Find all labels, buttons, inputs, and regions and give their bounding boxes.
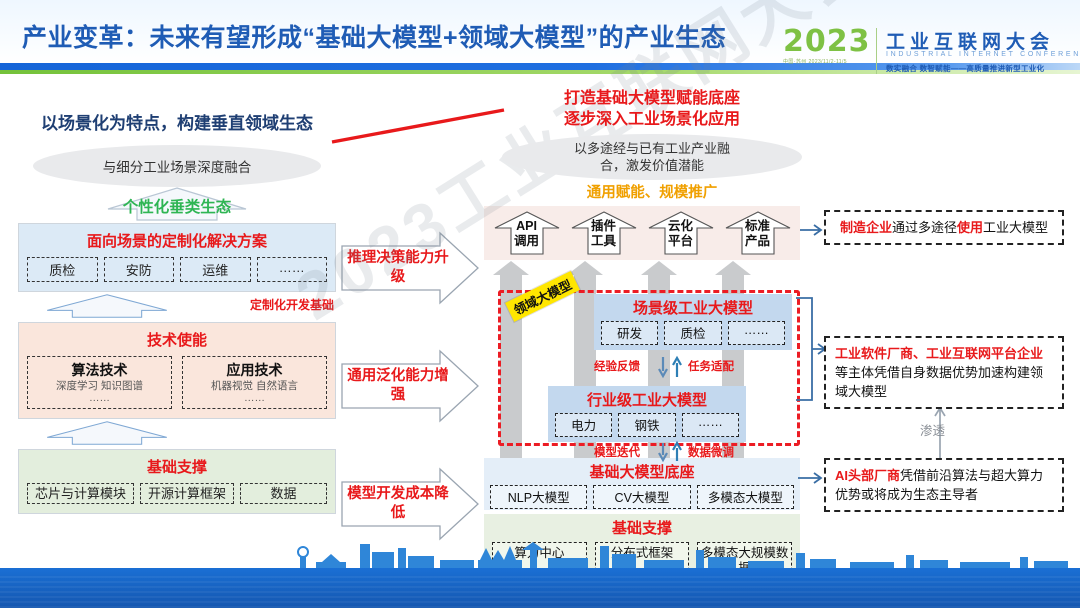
left-vertical-ecosystem-panel: 以场景化为特点，构建垂直领域生态 与细分工业场景深度融合 个性化垂类生态 面向场… (18, 112, 336, 572)
api-arrow-label: API 调用 (493, 219, 561, 249)
conference-year-logo: 2023 中国·苏州 2023/11/2-11/5 (783, 26, 871, 76)
chip: 开源计算框架 (140, 483, 234, 504)
api-arrow-line2: 产品 (724, 234, 792, 249)
up-arrow-icon (42, 419, 172, 447)
page-header: 产业变革：未来有望形成“基础大模型+领域大模型”的产业生态 2023 中国·苏州… (0, 0, 1080, 80)
base-model-chips: NLP大模型 CV大模型 多模态大模型 (484, 482, 800, 509)
api-arrow: API 调用 (493, 210, 561, 256)
penetrate-label: 渗透 (920, 420, 945, 439)
page-title: 产业变革：未来有望形成“基础大模型+领域大模型”的产业生态 (22, 18, 726, 54)
group-title: 算法技术 (30, 360, 169, 380)
bottom-blue-wave (0, 568, 1080, 608)
chip: …… (257, 257, 328, 282)
rb1-tail: 工业大模型 (983, 220, 1048, 235)
chip: NLP大模型 (490, 485, 587, 509)
connector-brace-to-box2 (790, 296, 826, 406)
api-arrow-label: 插件 工具 (570, 219, 638, 249)
right-box-software-platform: 工业软件厂商、工业互联网平台企业等主体凭借自身数据优势加速构建领域大模型 (824, 336, 1064, 409)
rb1-bold2: 使用 (957, 220, 983, 235)
flow-label-task-adaptation: 任务适配 (688, 358, 734, 374)
capability-arrow-label: 推理决策能力升级 (346, 249, 450, 287)
top-headline-group: 打造基础大模型赋能底座 逐步深入工业场景化应用 以多途经与已有工业产业融 合，激… (492, 88, 812, 202)
api-arrow-line1: API (493, 219, 561, 234)
industry-model-box: 行业级工业大模型 电力 钢铁 …… (548, 386, 746, 442)
capability-arrow: 推理决策能力升级 (340, 230, 480, 306)
api-arrow-line2: 调用 (493, 234, 561, 249)
chip: 质检 (664, 321, 721, 345)
city-skyline-decoration (0, 526, 1080, 572)
chip: 多模态大模型 (697, 485, 794, 509)
left-solution-title: 面向场景的定制化解决方案 (27, 230, 327, 251)
top-headline-line1: 打造基础大模型赋能底座 (492, 88, 812, 109)
chip: CV大模型 (593, 485, 690, 509)
left-tech-block: 技术使能 算法技术 深度学习 知识图谱 …… 应用技术 机器视觉 自然语言 …… (18, 322, 336, 419)
chip: 芯片与计算模块 (27, 483, 134, 504)
center-model-stack: API 调用 插件 工具 云化 平台 (484, 206, 800, 578)
api-arrow: 标准 产品 (724, 210, 792, 256)
logo-title-cn: 工业互联网大会 (886, 27, 1054, 54)
left-solution-chips: 质检 安防 运维 …… (27, 257, 327, 282)
rb3-bold: AI头部厂商 (835, 468, 900, 483)
capability-arrow-label: 模型开发成本降低 (346, 485, 450, 523)
left-anno-dev-base: 定制化开发基础 (250, 296, 334, 313)
api-arrow-line2: 工具 (570, 234, 638, 249)
top-headline-orange: 通用赋能、规模推广 (492, 181, 812, 202)
industry-model-chips: 电力 钢铁 …… (548, 410, 746, 442)
chip: 安防 (104, 257, 175, 282)
api-arrow-line1: 标准 (724, 219, 792, 234)
up-arrow-icon (42, 292, 172, 320)
logo-year: 2023 (783, 26, 871, 58)
left-tech-group: 算法技术 深度学习 知识图谱 …… (27, 356, 172, 409)
rb1-bold1: 制造企业 (840, 220, 892, 235)
api-arrow: 云化 平台 (647, 210, 715, 256)
red-pointer-line (330, 108, 506, 144)
left-arrow-support (18, 419, 336, 449)
chip: 电力 (555, 413, 612, 437)
left-support-title: 基础支撑 (27, 456, 327, 477)
left-eco-label: 个性化垂类生态 (123, 195, 232, 217)
left-tech-group: 应用技术 机器视觉 自然语言 …… (182, 356, 327, 409)
chip: …… (682, 413, 739, 437)
top-headline-oval: 以多途经与已有工业产业融 合，激发价值潜能 (502, 134, 802, 180)
left-support-chips: 芯片与计算模块 开源计算框架 数据 (27, 483, 327, 504)
group-desc: 深度学习 知识图谱 …… (30, 380, 169, 404)
connector-to-box1 (800, 222, 826, 238)
api-delivery-row: API 调用 插件 工具 云化 平台 (484, 206, 800, 260)
flow-arrows-bottom (656, 442, 686, 462)
left-tech-groups: 算法技术 深度学习 知识图谱 …… 应用技术 机器视觉 自然语言 …… (27, 356, 327, 409)
rb1-mid: 通过多途径 (892, 220, 957, 235)
logo-slogan: 数实融合 数智赋能——高质量推进新型工业化 (886, 63, 1044, 74)
top-oval-line1: 以多途经与已有工业产业融 (574, 140, 730, 157)
left-support-block: 基础支撑 芯片与计算模块 开源计算框架 数据 (18, 449, 336, 514)
capability-arrow-label: 通用泛化能力增强 (346, 367, 450, 405)
chip: 研发 (601, 321, 658, 345)
chip: 钢铁 (618, 413, 675, 437)
group-title: 应用技术 (185, 360, 324, 380)
chip: …… (728, 321, 785, 345)
capability-arrow: 通用泛化能力增强 (340, 348, 480, 424)
base-model-title: 基础大模型底座 (484, 458, 800, 482)
scene-model-box: 场景级工业大模型 研发 质检 …… (594, 294, 792, 350)
api-arrow-line1: 云化 (647, 219, 715, 234)
top-headline-line2: 逐步深入工业场景化应用 (492, 109, 812, 130)
api-arrow-line1: 插件 (570, 219, 638, 234)
right-box-ai-vendors: AI头部厂商凭借前沿算法与超大算力优势或将成为生态主导者 (824, 458, 1064, 512)
api-arrow-label: 云化 平台 (647, 219, 715, 249)
chip: 运维 (180, 257, 251, 282)
flow-label-experience-feedback: 经验反馈 (594, 358, 640, 374)
left-arrow-dev-base: 定制化开发基础 (18, 292, 336, 322)
rb2-bold: 工业软件厂商、工业互联网平台企业 (835, 346, 1043, 361)
chip: 数据 (240, 483, 327, 504)
rb2-tail: 等主体凭借自身数据优势加速构建领域大模型 (835, 365, 1043, 399)
left-arrow-eco: 个性化垂类生态 (18, 187, 336, 223)
left-oval-caption: 与细分工业场景深度融合 (33, 145, 321, 187)
logo-divider (876, 28, 877, 74)
logo-title-en: INDUSTRIAL INTERNET CONFERENCE (886, 51, 1080, 58)
scene-model-title: 场景级工业大模型 (594, 294, 792, 318)
logo-year-subtitle: 中国·苏州 2023/11/2-11/5 (783, 58, 871, 65)
api-arrow-line2: 平台 (647, 234, 715, 249)
flow-arrows-mid (656, 356, 686, 378)
left-solution-block: 面向场景的定制化解决方案 质检 安防 运维 …… (18, 223, 336, 292)
base-model-box: 基础大模型底座 NLP大模型 CV大模型 多模态大模型 (484, 458, 800, 510)
api-arrow: 插件 工具 (570, 210, 638, 256)
right-box-manufacturers: 制造企业通过多途径使用工业大模型 (824, 210, 1064, 245)
industry-model-title: 行业级工业大模型 (548, 386, 746, 410)
left-tech-title: 技术使能 (27, 329, 327, 350)
chip: 质检 (27, 257, 98, 282)
connector-to-box3 (798, 470, 826, 486)
middle-capability-arrows: 推理决策能力升级 通用泛化能力增强 模型开发成本降低 (340, 230, 490, 560)
scene-model-chips: 研发 质检 …… (594, 318, 792, 350)
group-desc: 机器视觉 自然语言 …… (185, 380, 324, 404)
api-arrow-label: 标准 产品 (724, 219, 792, 249)
top-oval-line2: 合，激发价值潜能 (574, 157, 730, 174)
left-heading: 以场景化为特点，构建垂直领域生态 (18, 112, 336, 135)
